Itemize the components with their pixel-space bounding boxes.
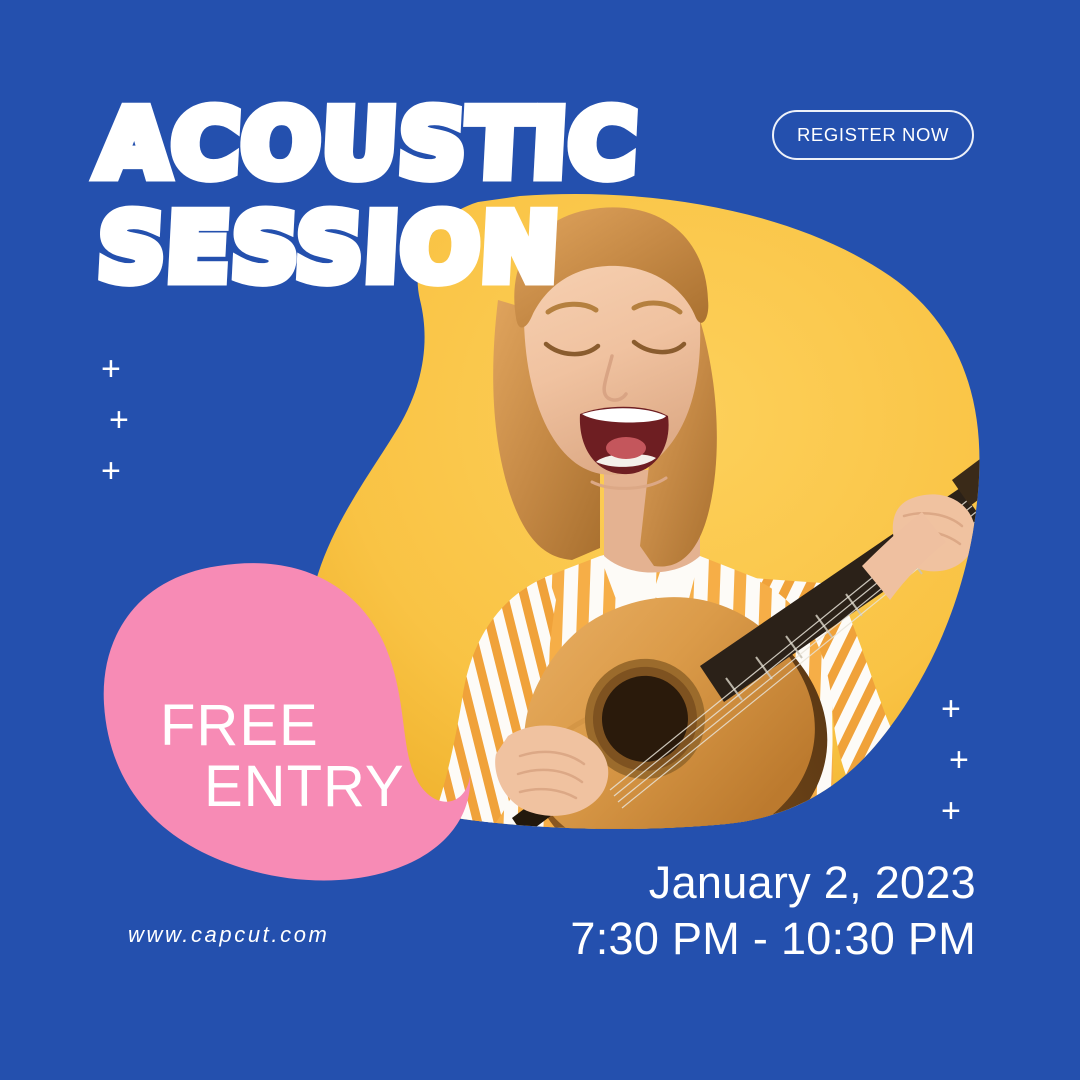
register-now-button[interactable]: REGISTER NOW [772, 110, 974, 160]
website-url[interactable]: www.capcut.com [128, 922, 329, 948]
tongue [606, 437, 646, 459]
poster-canvas: ACOUSTIC SESSION REGISTER NOW FREE ENTRY… [0, 0, 1080, 1080]
artwork-layer [0, 0, 1080, 1080]
